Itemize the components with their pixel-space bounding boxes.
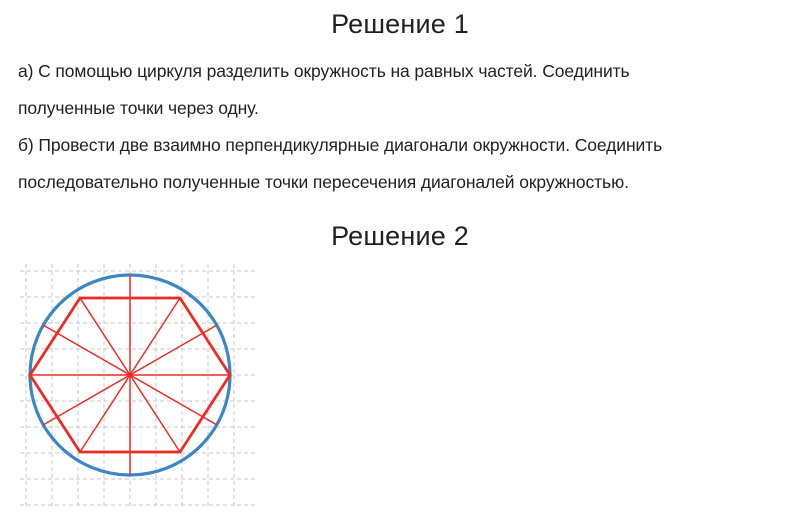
shape-lines — [30, 275, 230, 475]
page-title-solution-1: Решение 1 — [0, 8, 800, 40]
page-root: Решение 1 а) С помощью циркуля разделить… — [0, 0, 800, 519]
geometry-figure — [20, 264, 258, 506]
hexagon-inscribed-in-circle-svg — [20, 264, 258, 506]
solution-1-body: а) С помощью циркуля разделить окружност… — [18, 53, 786, 201]
body-line: а) С помощью циркуля разделить окружност… — [18, 53, 786, 90]
page-title-solution-2: Решение 2 — [0, 220, 800, 252]
body-line: полученные точки через одну. — [18, 90, 786, 127]
body-line: б) Провести две взаимно перпендикулярные… — [18, 127, 786, 164]
body-line: последовательно полученные точки пересеч… — [18, 164, 786, 201]
